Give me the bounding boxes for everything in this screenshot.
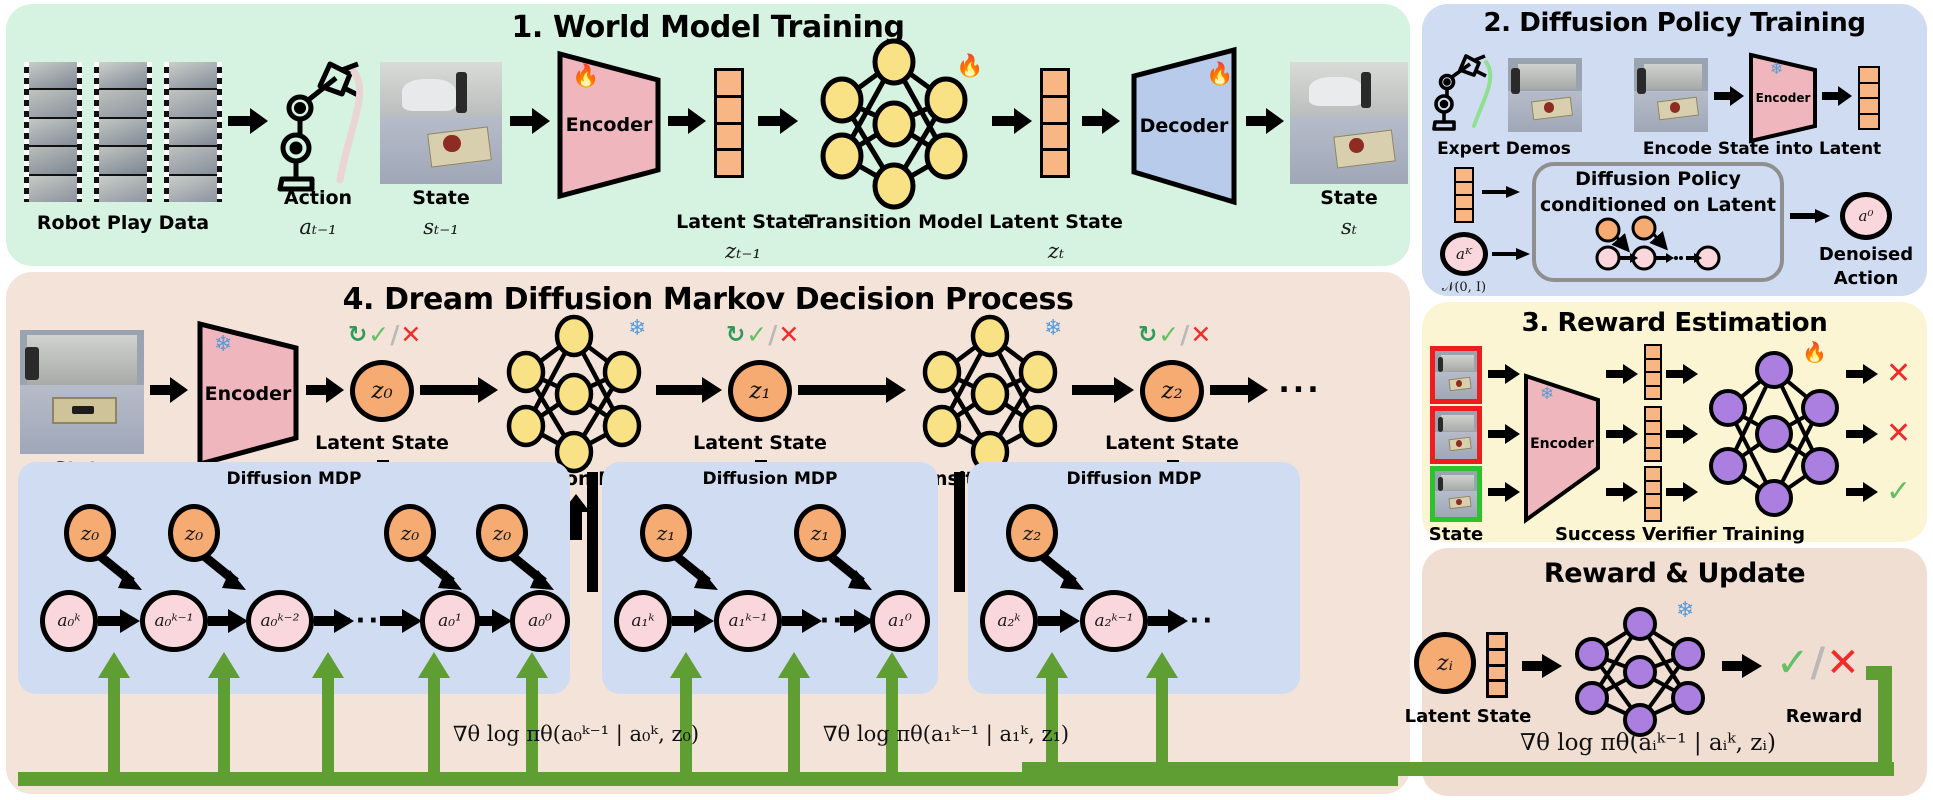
latent-vector-policy bbox=[1858, 66, 1880, 130]
arrow-z0-to-transition1 bbox=[420, 377, 498, 403]
cross-icon: ✕ bbox=[1886, 416, 1911, 451]
panel-title-dream: 4. Dream Diffusion Markov Decision Proce… bbox=[6, 282, 1410, 317]
latent-vector-out bbox=[1040, 68, 1070, 178]
label-diffusion-policy-line2: conditioned on Latent bbox=[1540, 194, 1776, 216]
check-icon: ✓ bbox=[746, 320, 767, 349]
gradient-formula-mdp2: ∇θ log πθ(a₁ᵏ⁻¹ | a₁ᵏ, z₁) bbox=[823, 722, 1069, 746]
verify-glyph-z0: ↻ ✓ / ✕ bbox=[348, 320, 421, 349]
reward-return-elbow bbox=[1866, 666, 1892, 680]
encode-state-photo bbox=[1634, 58, 1708, 132]
gradient-arrow-6 bbox=[670, 652, 702, 776]
mdp2-action-3: a₁⁰ bbox=[870, 590, 930, 652]
encoder-block-world: Encoder 🔥 bbox=[556, 50, 662, 200]
transition-model-network-world: 🔥 bbox=[806, 44, 982, 204]
arrow-state1-to-encoder bbox=[1488, 364, 1520, 384]
snowflake-icon: ❄ bbox=[628, 318, 646, 340]
arrow-noise-to-policy bbox=[1492, 248, 1530, 260]
slash-divider: / bbox=[1180, 320, 1189, 349]
policy-denoise-chain bbox=[1592, 220, 1722, 276]
arrow-net-to-outcome3 bbox=[1846, 482, 1878, 502]
robot-arm-icon bbox=[1430, 52, 1504, 136]
mdp1-chain-arrow-5 bbox=[478, 609, 512, 633]
panel-title-reward: 3. Reward Estimation bbox=[1422, 308, 1927, 338]
label-denoised-line1: Denoised bbox=[1819, 244, 1913, 265]
gradient-arrow-1 bbox=[98, 652, 130, 776]
panel-title-update: Reward & Update bbox=[1422, 558, 1927, 589]
rotate-icon: ↻ bbox=[726, 322, 745, 348]
label-latent-state-z2: Latent State bbox=[1105, 432, 1239, 454]
math-state-input: sₜ₋₁ bbox=[423, 215, 458, 239]
arrow-net-to-outcome2 bbox=[1846, 424, 1878, 444]
mdp1-action-0: a₀ᵏ bbox=[40, 590, 98, 652]
arrow-verifier-to-reward bbox=[1722, 654, 1762, 678]
panel-dream-diffusion-mdp: 4. Dream Diffusion Markov Decision Proce… bbox=[6, 272, 1410, 794]
mdp1-action-2: a₀ᵏ⁻² bbox=[246, 590, 314, 652]
check-icon: ✓ bbox=[1886, 474, 1911, 509]
state-photo-input bbox=[380, 62, 502, 184]
arrow-state3-to-encoder bbox=[1488, 482, 1520, 502]
mdp3-action-0: a₂ᵏ bbox=[980, 590, 1038, 652]
arrow-encoder-to-latent3 bbox=[1606, 482, 1638, 502]
mdp2-cond-arrow-2 bbox=[826, 552, 880, 598]
gradient-formula-mdp1: ∇θ log πθ(a₀ᵏ⁻¹ | a₀ᵏ, z₀) bbox=[453, 722, 699, 746]
label-latent-state-in: Latent State bbox=[676, 211, 810, 233]
mdp1-action-5: a₀⁰ bbox=[510, 590, 570, 652]
filmstrip-3 bbox=[164, 62, 222, 202]
latent-vector-in bbox=[714, 68, 744, 178]
encoder-block-policy: Encoder ❄ bbox=[1748, 52, 1818, 144]
panel-world-model-training: 1. World Model Training Robot Play Data bbox=[6, 4, 1410, 266]
diffusion-mdp-block-3: Diffusion MDP bbox=[968, 462, 1300, 694]
arrow-encoder-to-latent bbox=[668, 108, 706, 134]
gradient-arrow-2 bbox=[208, 652, 240, 776]
mdp1-chain-arrow-1 bbox=[98, 609, 140, 633]
mdp1-action-1: a₀ᵏ⁻¹ bbox=[140, 590, 208, 652]
mdp3-chain-arrow-1 bbox=[1038, 609, 1080, 633]
outcome-cross-1: ✕ bbox=[1886, 356, 1911, 391]
slash-divider: / bbox=[768, 320, 777, 349]
panel-title-policy: 2. Diffusion Policy Training bbox=[1422, 8, 1927, 38]
verify-glyph-z2: ↻ ✓ / ✕ bbox=[1138, 320, 1211, 349]
state-photo-dream bbox=[20, 330, 144, 454]
slash-divider: / bbox=[390, 320, 399, 349]
mdp1-chain-arrow-3 bbox=[314, 609, 354, 633]
arrow-state2-to-encoder bbox=[1488, 424, 1520, 444]
cross-icon: ✕ bbox=[400, 320, 421, 349]
label-action: Action bbox=[284, 187, 352, 209]
robot-arm-icon bbox=[274, 52, 370, 202]
success-verifier-network-frozen: ❄ bbox=[1572, 610, 1712, 734]
mdp2-cond-arrow-1 bbox=[672, 552, 726, 598]
math-gaussian: 𝒩(0, I) bbox=[1442, 280, 1486, 295]
label-reward: Reward bbox=[1786, 706, 1863, 727]
gradient-arrow-10 bbox=[1146, 652, 1178, 776]
latent-vector-reward-1 bbox=[1644, 344, 1662, 400]
arrow-transition1-to-z1 bbox=[656, 377, 722, 403]
success-verifier-network: 🔥 bbox=[1706, 346, 1842, 524]
snowflake-icon: ❄ bbox=[214, 334, 232, 356]
arrow-z1-to-transition2 bbox=[798, 377, 906, 403]
gradient-arrow-9 bbox=[1036, 652, 1068, 776]
label-diffusion-mdp-2: Diffusion MDP bbox=[602, 469, 938, 489]
math-action: aₜ₋₁ bbox=[299, 215, 336, 239]
mdp1-chain-arrow-2 bbox=[208, 609, 248, 633]
state-photo-fail-2 bbox=[1430, 406, 1482, 464]
label-state-input: State bbox=[412, 187, 470, 209]
arrow-state-to-encoder-dream bbox=[150, 377, 188, 403]
reward-return-horizontal bbox=[1022, 762, 1894, 776]
arrow-net-to-outcome1 bbox=[1846, 364, 1878, 384]
panel-reward-update: Reward & Update zᵢ Latent State ❄ ✓ bbox=[1422, 548, 1927, 796]
label-robot-play-data: Robot Play Data bbox=[37, 212, 209, 234]
outcome-cross-2: ✕ bbox=[1886, 416, 1911, 451]
slash-divider: / bbox=[1811, 640, 1826, 686]
gradient-formula-update: ∇θ log πθ(aᵢᵏ⁻¹ | aᵢᵏ, zᵢ) bbox=[1520, 730, 1776, 756]
node-latent-z1: z₁ bbox=[728, 360, 792, 422]
snowflake-icon: ❄ bbox=[1676, 600, 1694, 622]
mdp1-chain-arrow-4 bbox=[380, 609, 422, 633]
mdp3-chain-arrow-2 bbox=[1148, 609, 1188, 633]
check-icon: ✓ bbox=[368, 320, 389, 349]
arrow-encoder-to-latent-policy bbox=[1822, 86, 1852, 106]
gradient-arrow-5 bbox=[516, 652, 548, 776]
label-diffusion-policy-line1: Diffusion Policy bbox=[1575, 168, 1741, 190]
reward-return-vertical bbox=[1878, 666, 1892, 776]
gradient-arrow-3 bbox=[312, 652, 344, 776]
node-noise-action: aᴷ bbox=[1440, 232, 1488, 276]
label-latent-state-update: Latent State bbox=[1405, 706, 1532, 727]
flame-icon: 🔥 bbox=[1802, 342, 1827, 362]
state-photo-fail-1 bbox=[1430, 346, 1482, 404]
gradient-arrow-4 bbox=[418, 652, 450, 776]
reward-outcome-glyph: ✓ / ✕ bbox=[1776, 640, 1860, 686]
label-encode-state-into-latent: Encode State into Latent bbox=[1643, 139, 1881, 159]
ellipsis-top-chain: ··· bbox=[1278, 373, 1321, 408]
filmstrip-1 bbox=[24, 62, 82, 202]
snowflake-icon: ❄ bbox=[1770, 61, 1783, 77]
state-photo-success bbox=[1430, 466, 1482, 522]
panel-diffusion-policy-training: 2. Diffusion Policy Training Expert Demo… bbox=[1422, 4, 1927, 296]
mdp3-action-1: a₂ᵏ⁻¹ bbox=[1080, 590, 1148, 652]
transition-model-network-2: ❄ bbox=[914, 320, 1066, 468]
rotate-icon: ↻ bbox=[1138, 322, 1157, 348]
feedback-line-mdp1 bbox=[587, 472, 598, 592]
arrow-z2-to-next bbox=[1210, 377, 1268, 403]
cross-icon: ✕ bbox=[778, 320, 799, 349]
arrow-latent-to-verifier bbox=[1522, 654, 1562, 678]
arrow-latent1-to-net bbox=[1666, 364, 1698, 384]
node-latent-zi: zᵢ bbox=[1414, 632, 1476, 694]
label-latent-state-out: Latent State bbox=[989, 211, 1123, 233]
cross-icon: ✕ bbox=[1190, 320, 1211, 349]
mdp1-cond-arrow-1 bbox=[96, 552, 150, 598]
mdp3-cond-arrow-1 bbox=[1038, 552, 1092, 598]
arrow-transition-to-latent-out bbox=[992, 108, 1032, 134]
arrow-encoder-to-latent2 bbox=[1606, 424, 1638, 444]
arrow-state-to-encoder bbox=[510, 108, 550, 134]
arrow-latent-to-policy bbox=[1482, 186, 1520, 198]
gradient-arrow-7 bbox=[778, 652, 810, 776]
check-icon: ✓ bbox=[1776, 640, 1810, 686]
verify-glyph-z1: ↻ ✓ / ✕ bbox=[726, 320, 799, 349]
flame-icon: 🔥 bbox=[572, 66, 599, 88]
label-expert-demos: Expert Demos bbox=[1437, 139, 1571, 159]
latent-vector-reward-3 bbox=[1644, 466, 1662, 522]
label-diffusion-mdp-1: Diffusion MDP bbox=[18, 469, 570, 489]
latent-vector-reward-2 bbox=[1644, 406, 1662, 462]
flame-icon: 🔥 bbox=[1206, 64, 1233, 86]
mdp2-action-0: a₁ᵏ bbox=[614, 590, 672, 652]
arrow-playdata-to-action bbox=[228, 108, 268, 134]
node-latent-z2: z₂ bbox=[1140, 360, 1204, 422]
state-photo-output bbox=[1290, 62, 1408, 184]
arrow-latent2-to-net bbox=[1666, 424, 1698, 444]
check-icon: ✓ bbox=[1158, 320, 1179, 349]
outcome-check: ✓ bbox=[1886, 474, 1911, 509]
arrow-decoder-to-state-out bbox=[1246, 108, 1284, 134]
node-denoised-action: a⁰ bbox=[1840, 192, 1892, 240]
latent-vector-condition bbox=[1454, 167, 1474, 223]
mdp1-action-4: a₀¹ bbox=[420, 590, 480, 652]
latent-vector-update bbox=[1486, 632, 1508, 698]
panel-title-world-model: 1. World Model Training bbox=[6, 10, 1410, 45]
math-state-output: sₜ bbox=[1341, 215, 1357, 239]
math-latent-out: zₜ bbox=[1048, 239, 1064, 263]
figure-root: { "panels": { "world_model": { "title": … bbox=[0, 0, 1933, 800]
arrow-encoder-to-latent1 bbox=[1606, 364, 1638, 384]
mdp2-chain-arrow-3 bbox=[840, 609, 874, 633]
node-latent-z0: z₀ bbox=[350, 360, 414, 422]
gradient-arrow-8 bbox=[876, 652, 908, 776]
encoder-block-reward: Encoder ❄ bbox=[1522, 344, 1602, 524]
arrow-transition2-to-z2 bbox=[1072, 377, 1134, 403]
arrow-latent3-to-net bbox=[1666, 482, 1698, 502]
mdp2-action-1: a₁ᵏ⁻¹ bbox=[714, 590, 782, 652]
encoder-block-dream: Encoder ❄ bbox=[196, 320, 300, 468]
transition-model-network-1: ❄ bbox=[498, 320, 650, 468]
label-transition-model: Transition Model bbox=[805, 211, 983, 233]
label-state-output: State bbox=[1320, 187, 1378, 209]
filmstrip-2 bbox=[94, 62, 152, 202]
cross-icon: ✕ bbox=[1826, 640, 1860, 686]
mdp2-chain-arrow-1 bbox=[672, 609, 714, 633]
arrow-photo-to-encoder-policy bbox=[1714, 86, 1744, 106]
label-state-reward: State bbox=[1429, 524, 1484, 545]
arrow-policy-to-denoised bbox=[1790, 209, 1830, 223]
label-denoised-line2: Action bbox=[1834, 268, 1899, 289]
feedback-line-mdp2 bbox=[954, 472, 965, 592]
arrow-latent-to-decoder bbox=[1082, 108, 1120, 134]
snowflake-icon: ❄ bbox=[1044, 318, 1062, 340]
snowflake-icon: ❄ bbox=[1540, 386, 1554, 403]
cross-icon: ✕ bbox=[1886, 356, 1911, 391]
decoder-block-world: Decoder 🔥 bbox=[1128, 46, 1240, 206]
mdp1-cond-arrow-2 bbox=[200, 552, 254, 598]
arrow-latent-to-transition bbox=[758, 108, 798, 134]
label-latent-state-z1: Latent State bbox=[693, 432, 827, 454]
flame-icon: 🔥 bbox=[956, 56, 983, 78]
label-success-verifier-training: Success Verifier Training bbox=[1555, 524, 1805, 545]
mdp2-chain-arrow-2 bbox=[782, 609, 822, 633]
rotate-icon: ↻ bbox=[348, 322, 367, 348]
label-latent-state-z0: Latent State bbox=[315, 432, 449, 454]
arrow-encoder-to-z0 bbox=[306, 377, 344, 403]
expert-demo-photo bbox=[1508, 58, 1582, 132]
panel-reward-estimation: 3. Reward Estimation State Encoder ❄ bbox=[1422, 302, 1927, 542]
math-latent-in: zₜ₋₁ bbox=[725, 239, 761, 263]
label-diffusion-mdp-3: Diffusion MDP bbox=[968, 469, 1300, 489]
